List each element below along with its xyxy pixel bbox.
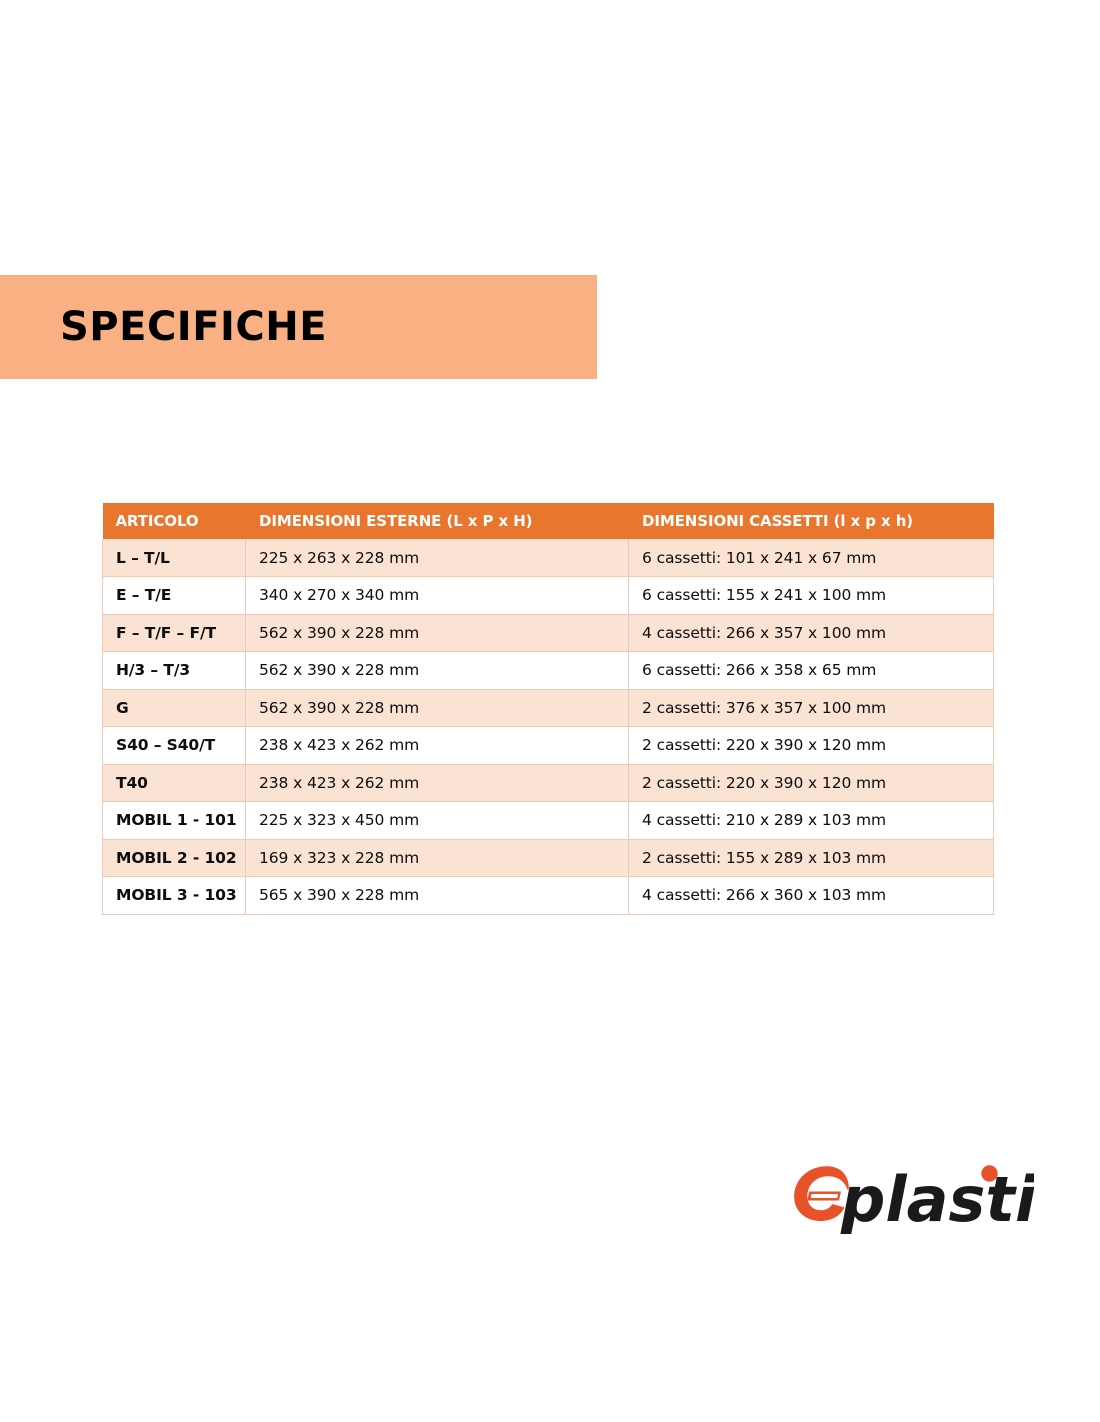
cell-dimensioni-cassetti: 2 cassetti: 376 x 357 x 100 mm xyxy=(629,689,994,727)
cell-dimensioni-esterne: 562 x 390 x 228 mm xyxy=(246,614,629,652)
cell-articolo: H/3 – T/3 xyxy=(103,652,246,690)
cell-dimensioni-cassetti: 6 cassetti: 101 x 241 x 67 mm xyxy=(629,539,994,577)
cell-articolo: MOBIL 2 - 102 xyxy=(103,839,246,877)
logo-wordmark: plastic xyxy=(840,1163,1034,1236)
specifications-table-container: ARTICOLO DIMENSIONI ESTERNE (L x P x H) … xyxy=(102,503,993,915)
table-row: S40 – S40/T 238 x 423 x 262 mm 2 cassett… xyxy=(103,727,994,765)
cell-dimensioni-esterne: 562 x 390 x 228 mm xyxy=(246,652,629,690)
cell-dimensioni-cassetti: 4 cassetti: 266 x 357 x 100 mm xyxy=(629,614,994,652)
cell-articolo: L – T/L xyxy=(103,539,246,577)
cell-dimensioni-cassetti: 2 cassetti: 220 x 390 x 120 mm xyxy=(629,764,994,802)
table-row: H/3 – T/3 562 x 390 x 228 mm 6 cassetti:… xyxy=(103,652,994,690)
cell-dimensioni-esterne: 238 x 423 x 262 mm xyxy=(246,764,629,802)
table-row: F – T/F – F/T 562 x 390 x 228 mm 4 casse… xyxy=(103,614,994,652)
table-body: L – T/L 225 x 263 x 228 mm 6 cassetti: 1… xyxy=(103,539,994,914)
eplastic-logo: plastic xyxy=(789,1158,1034,1244)
cell-dimensioni-esterne: 225 x 323 x 450 mm xyxy=(246,802,629,840)
specifications-table: ARTICOLO DIMENSIONI ESTERNE (L x P x H) … xyxy=(102,503,994,915)
column-header-dimensioni-esterne: DIMENSIONI ESTERNE (L x P x H) xyxy=(246,503,629,539)
cell-dimensioni-cassetti: 2 cassetti: 220 x 390 x 120 mm xyxy=(629,727,994,765)
table-row: MOBIL 2 - 102 169 x 323 x 228 mm 2 casse… xyxy=(103,839,994,877)
column-header-articolo: ARTICOLO xyxy=(103,503,246,539)
cell-dimensioni-cassetti: 6 cassetti: 266 x 358 x 65 mm xyxy=(629,652,994,690)
cell-articolo: MOBIL 3 - 103 xyxy=(103,877,246,915)
table-header: ARTICOLO DIMENSIONI ESTERNE (L x P x H) … xyxy=(103,503,994,539)
cell-dimensioni-esterne: 238 x 423 x 262 mm xyxy=(246,727,629,765)
cell-dimensioni-esterne: 169 x 323 x 228 mm xyxy=(246,839,629,877)
page-title: SPECIFICHE xyxy=(60,307,327,347)
cell-dimensioni-cassetti: 6 cassetti: 155 x 241 x 100 mm xyxy=(629,577,994,615)
cell-articolo: T40 xyxy=(103,764,246,802)
table-row: L – T/L 225 x 263 x 228 mm 6 cassetti: 1… xyxy=(103,539,994,577)
cell-articolo: S40 – S40/T xyxy=(103,727,246,765)
column-header-dimensioni-cassetti: DIMENSIONI CASSETTI (l x p x h) xyxy=(629,503,994,539)
table-row: MOBIL 1 - 101 225 x 323 x 450 mm 4 casse… xyxy=(103,802,994,840)
cell-dimensioni-esterne: 565 x 390 x 228 mm xyxy=(246,877,629,915)
cell-articolo: MOBIL 1 - 101 xyxy=(103,802,246,840)
table-row: MOBIL 3 - 103 565 x 390 x 228 mm 4 casse… xyxy=(103,877,994,915)
cell-dimensioni-esterne: 340 x 270 x 340 mm xyxy=(246,577,629,615)
cell-articolo: F – T/F – F/T xyxy=(103,614,246,652)
eplastic-logo-graphic: plastic xyxy=(789,1158,1034,1244)
table-row: T40 238 x 423 x 262 mm 2 cassetti: 220 x… xyxy=(103,764,994,802)
cell-dimensioni-cassetti: 4 cassetti: 210 x 289 x 103 mm xyxy=(629,802,994,840)
table-row: E – T/E 340 x 270 x 340 mm 6 cassetti: 1… xyxy=(103,577,994,615)
cell-dimensioni-cassetti: 4 cassetti: 266 x 360 x 103 mm xyxy=(629,877,994,915)
cell-dimensioni-esterne: 225 x 263 x 228 mm xyxy=(246,539,629,577)
cell-dimensioni-esterne: 562 x 390 x 228 mm xyxy=(246,689,629,727)
cell-articolo: G xyxy=(103,689,246,727)
cell-dimensioni-cassetti: 2 cassetti: 155 x 289 x 103 mm xyxy=(629,839,994,877)
specifiche-banner: SPECIFICHE xyxy=(0,275,597,379)
cell-articolo: E – T/E xyxy=(103,577,246,615)
table-header-row: ARTICOLO DIMENSIONI ESTERNE (L x P x H) … xyxy=(103,503,994,539)
logo-dot-icon xyxy=(981,1165,997,1181)
table-row: G 562 x 390 x 228 mm 2 cassetti: 376 x 3… xyxy=(103,689,994,727)
